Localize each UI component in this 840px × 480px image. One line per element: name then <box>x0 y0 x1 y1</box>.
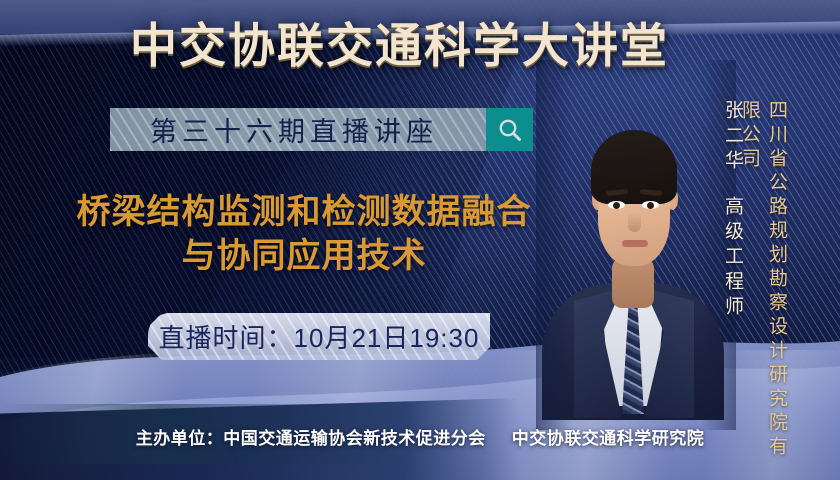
portrait-hair <box>591 130 677 204</box>
footer-organizers: 主办单位：中国交通运输协会新技术促进分会中交协联交通科学研究院 <box>0 424 840 449</box>
portrait-nose <box>628 214 641 232</box>
portrait-eye-right <box>642 201 659 209</box>
footer-prefix: 主办单位： <box>136 429 224 448</box>
broadcast-time-text: 直播时间：10月21日19:30 <box>159 318 480 355</box>
session-banner: 第三十六期直播讲座 <box>110 108 533 151</box>
speaker-organization: 四川省公路规划勘察设计研究院有限公司 <box>760 100 790 480</box>
portrait-eye-left <box>608 201 625 209</box>
topic-line-2: 与协同应用技术 <box>44 234 564 278</box>
search-button[interactable] <box>486 108 533 151</box>
webinar-poster: 中交协联交通科学大讲堂 第三十六期直播讲座 桥梁结构监测和检测数据融合 与协同应… <box>0 0 840 480</box>
search-icon <box>497 117 523 143</box>
topic-line-1: 桥梁结构监测和检测数据融合 <box>44 190 564 234</box>
footer-organizer-1: 中国交通运输协会新技术促进分会 <box>223 429 486 448</box>
broadcast-time-badge: 直播时间：10月21日19:30 <box>148 313 490 360</box>
speaker-portrait <box>540 68 725 420</box>
topic-title: 桥梁结构监测和检测数据融合 与协同应用技术 <box>44 190 564 278</box>
session-label: 第三十六期直播讲座 <box>110 110 486 149</box>
page-title: 中交协联交通科学大讲堂 <box>130 20 710 72</box>
footer-organizer-2: 中交协联交通科学研究院 <box>512 429 705 448</box>
portrait-mouth <box>622 240 648 247</box>
speaker-job-title: 高级工程师 <box>716 196 746 321</box>
